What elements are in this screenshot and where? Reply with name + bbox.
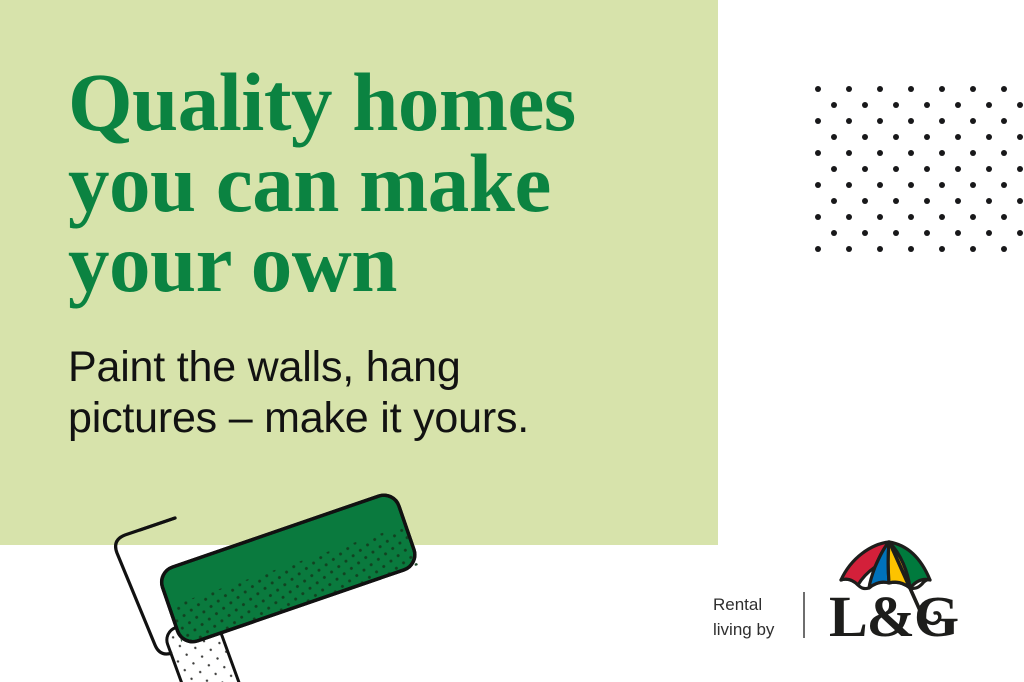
pattern-dot (955, 102, 961, 108)
pattern-dot (955, 198, 961, 204)
pattern-dot (1001, 86, 1007, 92)
pattern-dot (986, 134, 992, 140)
pattern-dot (970, 150, 976, 156)
pattern-dot (908, 86, 914, 92)
logo-tagline-line-2: living by (713, 618, 774, 643)
pattern-dot (939, 150, 945, 156)
pattern-dot (862, 102, 868, 108)
pattern-dot (1001, 246, 1007, 252)
subheading-line-1: Paint the walls, hang (68, 342, 668, 393)
pattern-dot (924, 134, 930, 140)
pattern-dot (986, 230, 992, 236)
pattern-dot (1001, 182, 1007, 188)
advert-canvas: Quality homes you can make your own Pain… (0, 0, 1024, 682)
pattern-dot (877, 118, 883, 124)
headline-line-1: Quality homes (68, 62, 688, 143)
pattern-dot (955, 166, 961, 172)
subheading-line-2: pictures – make it yours. (68, 393, 668, 444)
pattern-dot (970, 246, 976, 252)
headline-line-3: your own (68, 223, 688, 304)
pattern-dot (831, 102, 837, 108)
pattern-dot (846, 214, 852, 220)
pattern-dot (939, 214, 945, 220)
pattern-dot (862, 134, 868, 140)
pattern-dot (877, 246, 883, 252)
pattern-dot (815, 150, 821, 156)
pattern-dot (846, 182, 852, 188)
pattern-dot (815, 86, 821, 92)
pattern-dot (877, 86, 883, 92)
pattern-dot (815, 182, 821, 188)
pattern-dot (831, 166, 837, 172)
pattern-dot (831, 230, 837, 236)
pattern-dot (1017, 198, 1023, 204)
pattern-dot (955, 230, 961, 236)
pattern-dot (877, 150, 883, 156)
pattern-dot (908, 246, 914, 252)
pattern-dot (924, 166, 930, 172)
pattern-dot (970, 182, 976, 188)
pattern-dot (1017, 230, 1023, 236)
pattern-dot (815, 246, 821, 252)
pattern-dot (939, 118, 945, 124)
dot-pattern-decoration (815, 86, 1024, 252)
pattern-dot (846, 86, 852, 92)
pattern-dot (924, 198, 930, 204)
pattern-dot (939, 182, 945, 188)
pattern-dot (846, 150, 852, 156)
pattern-dot (877, 214, 883, 220)
pattern-dot (908, 118, 914, 124)
pattern-dot (924, 230, 930, 236)
paint-roller-illustration (100, 480, 430, 682)
pattern-dot (1001, 214, 1007, 220)
pattern-dot (1017, 102, 1023, 108)
pattern-dot (846, 118, 852, 124)
pattern-dot (1017, 134, 1023, 140)
subheading: Paint the walls, hang pictures – make it… (68, 342, 668, 443)
pattern-dot (986, 102, 992, 108)
pattern-dot (955, 134, 961, 140)
pattern-dot (862, 166, 868, 172)
pattern-dot (939, 246, 945, 252)
pattern-dot (970, 214, 976, 220)
pattern-dot (1017, 166, 1023, 172)
pattern-dot (1001, 150, 1007, 156)
pattern-dot (939, 86, 945, 92)
pattern-dot (908, 214, 914, 220)
logo-tagline-line-1: Rental (713, 593, 774, 618)
roller-cylinder (157, 491, 419, 646)
pattern-dot (970, 86, 976, 92)
lg-brand-mark: L&G (829, 530, 973, 650)
pattern-dot (893, 166, 899, 172)
logo-tagline: Rental living by (713, 593, 774, 642)
pattern-dot (877, 182, 883, 188)
pattern-dot (893, 102, 899, 108)
pattern-dot (893, 230, 899, 236)
pattern-dot (862, 230, 868, 236)
pattern-dot (815, 118, 821, 124)
pattern-dot (815, 214, 821, 220)
pattern-dot (1001, 118, 1007, 124)
lg-wordmark: L&G (829, 588, 958, 646)
logo-lockup: Rental living by (713, 530, 973, 650)
pattern-dot (908, 182, 914, 188)
pattern-dot (893, 198, 899, 204)
pattern-dot (986, 198, 992, 204)
logo-divider (803, 592, 805, 638)
page-title: Quality homes you can make your own (68, 62, 688, 304)
pattern-dot (831, 134, 837, 140)
pattern-dot (908, 150, 914, 156)
pattern-dot (986, 166, 992, 172)
pattern-dot (831, 198, 837, 204)
pattern-dot (970, 118, 976, 124)
pattern-dot (846, 246, 852, 252)
pattern-dot (862, 198, 868, 204)
pattern-dot (893, 134, 899, 140)
pattern-dot (924, 102, 930, 108)
headline-line-2: you can make (68, 143, 688, 224)
